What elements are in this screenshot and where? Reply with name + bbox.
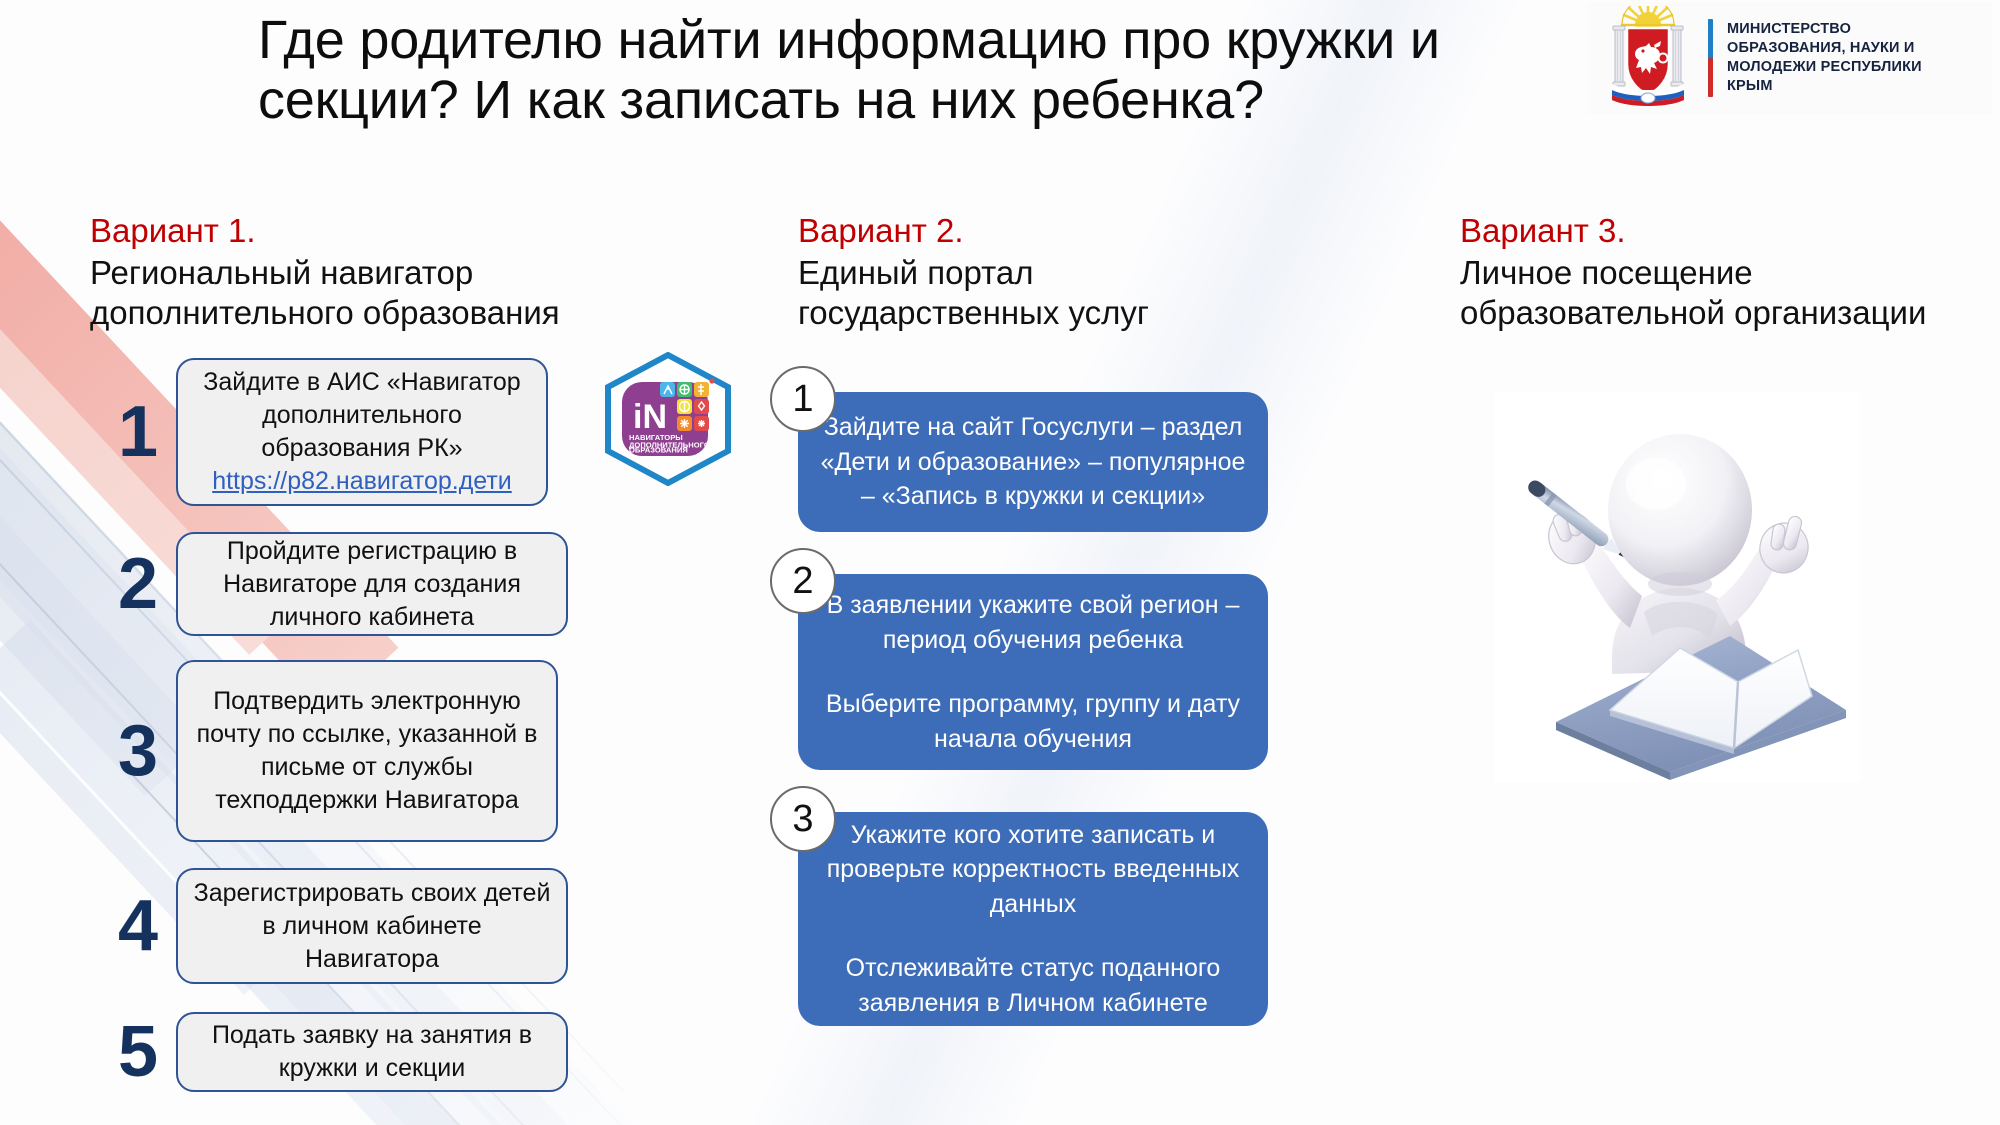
variant-1-label: Вариант 1. <box>90 212 670 251</box>
option1-step-2-text: Пройдите регистрацию в Навигаторе для со… <box>192 535 552 634</box>
option1-step-2-number: 2 <box>100 548 176 620</box>
ministry-logo-block: МИНИСТЕРСТВО ОБРАЗОВАНИЯ, НАУКИ И МОЛОДЕ… <box>1588 2 1992 114</box>
option2-step-3-number: 3 <box>770 786 836 852</box>
coat-of-arms-crimea-icon <box>1602 6 1694 110</box>
ministry-logo-line-3: МОЛОДЕЖИ РЕСПУБЛИКИ <box>1727 58 1922 77</box>
ministry-logo-line-2: ОБРАЗОВАНИЯ, НАУКИ И <box>1727 39 1922 58</box>
variant-3-subtitle-line-1: Личное посещение <box>1460 253 2000 293</box>
option1-step-4-text: Зарегистрировать своих детей в личном ка… <box>192 877 552 976</box>
option1-step-1-text: Зайдите в АИС «Навигатор дополнительного… <box>192 366 532 465</box>
option2-step-2-box: В заявлении укажите свой регион – период… <box>798 574 1268 770</box>
variant-1-subtitle-line-2: дополнительного образования <box>90 293 670 333</box>
navigator-dop-obrazovaniya-logo-icon: iN НАВИГАТОРЫ ДОПОЛНИТЕЛЬНОГО ОБРАЗОВАНИ… <box>602 352 734 486</box>
option2-step-2-paragraph-1: В заявлении укажите свой регион – период… <box>820 588 1246 657</box>
option1-step-1: 1 Зайдите в АИС «Навигатор дополнительно… <box>100 358 548 506</box>
option1-step-4-number: 4 <box>100 890 176 962</box>
option2-step-2-number: 2 <box>770 548 836 614</box>
logo-divider-bar <box>1708 19 1713 97</box>
option1-step-5-number: 5 <box>100 1016 176 1088</box>
option1-step-2-box: Пройдите регистрацию в Навигаторе для со… <box>176 532 568 636</box>
option2-step-3-paragraph-1: Укажите кого хотите записать и проверьте… <box>820 818 1246 922</box>
option1-step-3-text: Подтвердить электронную почту по ссылке,… <box>192 685 542 817</box>
option2-step-1-paragraph-1: Зайдите на сайт Госуслуги – раздел «Дети… <box>820 410 1246 514</box>
option2-step-3-paragraph-2: Отслеживайте статус поданного заявления … <box>820 951 1246 1020</box>
option1-step-1-number: 1 <box>100 396 176 468</box>
option1-step-3-number: 3 <box>100 715 176 787</box>
option2-step-1-box: Зайдите на сайт Госуслуги – раздел «Дети… <box>798 392 1268 532</box>
option1-step-2: 2 Пройдите регистрацию в Навигаторе для … <box>100 532 568 636</box>
option1-step-4-box: Зарегистрировать своих детей в личном ка… <box>176 868 568 984</box>
column-3-header: Вариант 3. Личное посещение образователь… <box>1460 212 2000 332</box>
navigator-caption-line-3: ОБРАЗОВАНИЯ <box>629 446 688 455</box>
variant-3-label: Вариант 3. <box>1460 212 2000 251</box>
column-1-header: Вариант 1. Региональный навигатор дополн… <box>90 212 670 332</box>
variant-2-subtitle-line-2: государственных услуг <box>798 293 1318 333</box>
ministry-logo-text: МИНИСТЕРСТВО ОБРАЗОВАНИЯ, НАУКИ И МОЛОДЕ… <box>1727 20 1922 95</box>
ministry-logo-line-1: МИНИСТЕРСТВО <box>1727 20 1922 39</box>
column-2-header: Вариант 2. Единый портал государственных… <box>798 212 1318 332</box>
option1-step-5-box: Подать заявку на занятия в кружки и секц… <box>176 1012 568 1092</box>
option2-step-3-box: Укажите кого хотите записать и проверьте… <box>798 812 1268 1026</box>
page-title: Где родителю найти информацию про кружки… <box>258 10 1518 131</box>
navigator-site-link[interactable]: https://p82.навигатор.дети <box>192 465 532 498</box>
option1-step-1-box: Зайдите в АИС «Навигатор дополнительного… <box>176 358 548 506</box>
option1-step-5-text: Подать заявку на занятия в кружки и секц… <box>192 1019 552 1085</box>
person-with-pen-and-document-3d-icon <box>1494 392 1860 782</box>
option1-step-4: 4 Зарегистрировать своих детей в личном … <box>100 868 568 984</box>
svg-text:iN: iN <box>633 398 667 436</box>
option1-step-3-box: Подтвердить электронную почту по ссылке,… <box>176 660 558 842</box>
ministry-logo-line-4: КРЫМ <box>1727 77 1922 96</box>
option2-step-1-number: 1 <box>770 366 836 432</box>
option1-step-3: 3 Подтвердить электронную почту по ссылк… <box>100 660 558 842</box>
variant-2-subtitle-line-1: Единый портал <box>798 253 1318 293</box>
option1-step-5: 5 Подать заявку на занятия в кружки и се… <box>100 1012 568 1092</box>
variant-2-label: Вариант 2. <box>798 212 1318 251</box>
option3-illustration-frame <box>1494 392 1860 782</box>
variant-3-subtitle-line-2: образовательной организации <box>1460 293 2000 333</box>
option2-step-2-paragraph-2: Выберите программу, группу и дату начала… <box>820 687 1246 756</box>
slide-canvas: Где родителю найти информацию про кружки… <box>0 0 2000 1125</box>
variant-1-subtitle-line-1: Региональный навигатор <box>90 253 670 293</box>
